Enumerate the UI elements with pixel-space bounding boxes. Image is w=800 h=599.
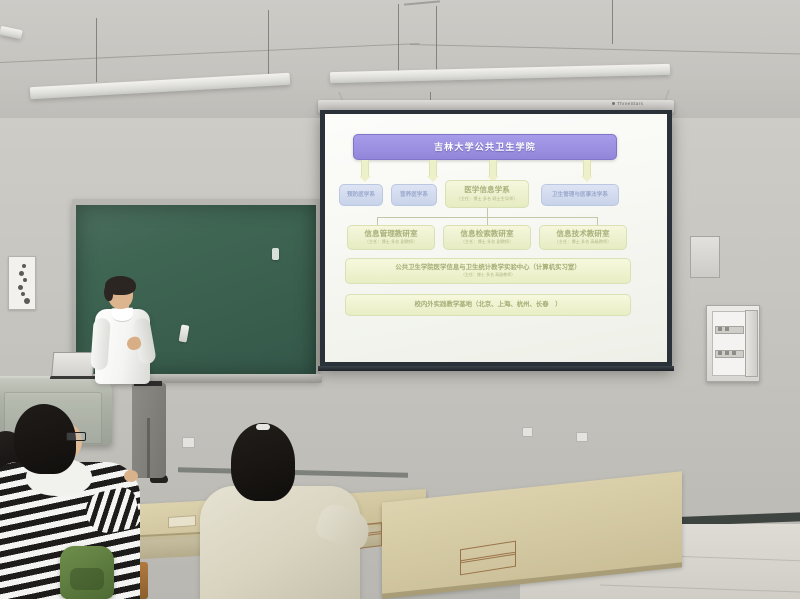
light-hanger	[398, 4, 399, 74]
student2-hair	[231, 423, 295, 501]
practice-bases-box: 校内外实践教学基地（北京、上海、杭州、长春 ）	[345, 294, 631, 316]
student1-backpack-pocket	[70, 568, 104, 590]
lab-subtitle: （主任：博士 多名 高级教师）	[555, 240, 612, 245]
teaching-center-subtitle: （主任：博士 多名 高级教师）	[461, 273, 515, 278]
arrow-down-icon	[487, 160, 499, 182]
arrow-down-icon	[427, 160, 439, 182]
department-box-3-highlighted: 医学信息学系 （主任：博士 多名 硕士生导师）	[445, 180, 529, 208]
connector-line	[377, 217, 379, 225]
framed-wall-scroll	[8, 256, 36, 310]
projection-screen-bottom-bar	[318, 366, 674, 371]
desk-paper	[168, 515, 196, 528]
department-name: 卫生管理与医事法学系	[552, 192, 608, 198]
slide-title: 吉林大学公共卫生学院	[434, 142, 536, 152]
electrical-panel-interior	[712, 311, 748, 376]
wall-socket[interactable]	[576, 432, 588, 442]
connector-line	[597, 217, 599, 225]
slide-title-box: 吉林大学公共卫生学院	[353, 134, 617, 160]
teaching-center-name: 公共卫生学院医学信息与卫生统计教学实验中心（计算机实习室）	[395, 264, 580, 271]
electrical-panel-door[interactable]	[745, 310, 758, 377]
light-hanger	[612, 0, 613, 44]
classroom-photo-scene: ThreeStars 吉林大学公共卫生学院 预防医学系 营养医学系 医学	[0, 0, 800, 599]
breaker-switch[interactable]	[718, 327, 722, 331]
practice-bases-name: 校内外实践教学基地（北京、上海、杭州、长春 ）	[415, 301, 562, 308]
lab-subtitle: （主任：博士 多名 副教授）	[461, 240, 514, 245]
student1-glasses	[66, 432, 86, 441]
light-hanger	[268, 10, 269, 82]
student2-hair-clip	[256, 424, 270, 430]
lab-name: 信息检索教研室	[460, 230, 513, 239]
breaker-switch[interactable]	[725, 351, 729, 355]
connector-line	[487, 208, 489, 217]
lab-box-3: 信息技术教研室 （主任：博士 多名 高级教师）	[539, 225, 627, 250]
breaker-switch[interactable]	[718, 351, 722, 355]
wall-vent	[690, 236, 720, 278]
arrow-down-icon	[359, 160, 371, 182]
connector-line	[487, 217, 489, 225]
breaker-switch[interactable]	[725, 327, 729, 331]
department-name: 营养医学系	[400, 192, 428, 198]
projector-brand-text: ThreeStars	[617, 101, 643, 106]
lab-box-2: 信息检索教研室 （主任：博士 多名 副教授）	[443, 225, 531, 250]
lab-box-1: 信息管理教研室 （主任：博士 多名 副教授）	[347, 225, 435, 250]
department-box-4: 卫生管理与医事法学系	[541, 184, 619, 206]
lab-subtitle: （主任：博士 多名 副教授）	[365, 240, 418, 245]
department-box-1: 预防医学系	[339, 184, 383, 206]
arrow-down-icon	[581, 160, 593, 182]
lab-name: 信息技术教研室	[556, 230, 609, 239]
presenter-trouser-seam	[147, 418, 150, 478]
projector-brand-label: ThreeStars	[612, 101, 643, 106]
wall-socket[interactable]	[182, 437, 195, 448]
department-subtitle: （主任：博士 多名 硕士生导师）	[457, 197, 518, 202]
breaker-switch[interactable]	[732, 351, 736, 355]
slide-content: 吉林大学公共卫生学院 预防医学系 营养医学系 医学信息学系 （主任：博士 多名 …	[331, 126, 661, 348]
light-hanger	[96, 18, 97, 82]
light-hanger	[436, 6, 437, 72]
presenter-hair-side	[104, 285, 113, 301]
student1-hand	[124, 470, 138, 482]
lab-name: 信息管理教研室	[364, 230, 417, 239]
department-box-2: 营养医学系	[391, 184, 437, 206]
department-name: 医学信息学系	[464, 186, 510, 195]
department-name: 预防医学系	[347, 192, 375, 198]
chalk-mark	[272, 248, 279, 260]
wall-socket[interactable]	[522, 427, 533, 437]
presenter-left-arm	[90, 317, 111, 370]
teaching-center-box: 公共卫生学院医学信息与卫生统计教学实验中心（计算机实习室） （主任：博士 多名 …	[345, 258, 631, 284]
